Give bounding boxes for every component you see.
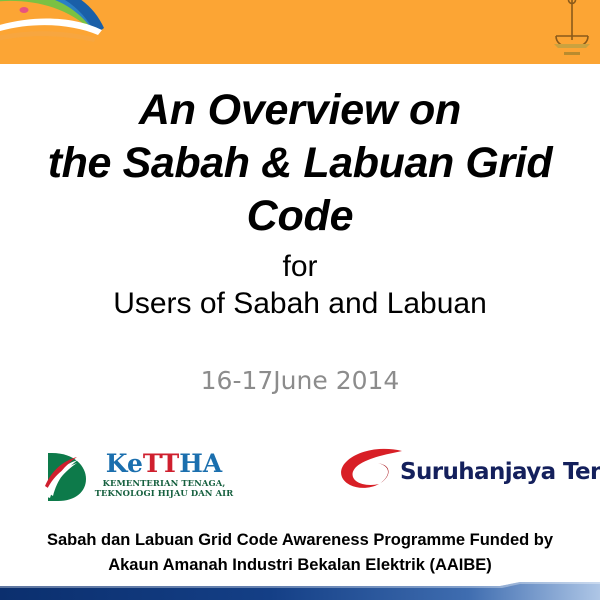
bottom-bar-gradient: [0, 582, 600, 600]
kettha-logo: KeTTHA KEMENTERIAN TENAGA, TEKNOLOGI HIJ…: [44, 450, 234, 504]
kettha-text-wrap: KeTTHA KEMENTERIAN TENAGA, TEKNOLOGI HIJ…: [94, 450, 234, 498]
kettha-acronym-part2: TT: [143, 449, 179, 478]
logos-row: KeTTHA KEMENTERIAN TENAGA, TEKNOLOGI HIJ…: [0, 448, 600, 510]
title-line-3: Code: [0, 190, 600, 243]
suruhanjaya-swoosh-icon: [338, 448, 404, 498]
bottom-accent-bar: [0, 582, 600, 600]
funding-banner-line-2: Akaun Amanah Industri Bekalan Elektrik (…: [0, 553, 600, 578]
suruhanjaya-tenaga-name: Suruhanjaya Tenaga: [400, 459, 600, 485]
suruhanjaya-tenaga-logo: Suruhanjaya Tenaga: [338, 448, 588, 504]
header-band: [0, 0, 600, 64]
kettha-acronym-part3: HA: [179, 449, 222, 478]
kettha-acronym-part1: Ke: [106, 449, 143, 478]
balance-scales-icon: [542, 0, 598, 62]
title-block: An Overview on the Sabah & Labuan Grid C…: [0, 84, 600, 323]
subtitle-for: for: [0, 249, 600, 285]
title-line-1: An Overview on: [0, 84, 600, 137]
kettha-acronym: KeTTHA: [94, 450, 234, 478]
funding-banner: Sabah dan Labuan Grid Code Awareness Pro…: [0, 528, 600, 578]
presentation-slide: An Overview on the Sabah & Labuan Grid C…: [0, 0, 600, 600]
swoosh-ribbon-icon: [0, 0, 146, 64]
title-line-2: the Sabah & Labuan Grid: [0, 137, 600, 190]
kettha-subtitle-line-1: KEMENTERIAN TENAGA,: [94, 478, 234, 488]
kettha-subtitle-line-2: TEKNOLOGI HIJAU DAN AIR: [94, 488, 234, 498]
kettha-leaf-icon: [44, 452, 90, 502]
subtitle-audience: Users of Sabah and Labuan: [0, 285, 600, 323]
event-date: 16-17June 2014: [0, 366, 600, 395]
funding-banner-line-1: Sabah dan Labuan Grid Code Awareness Pro…: [0, 528, 600, 553]
